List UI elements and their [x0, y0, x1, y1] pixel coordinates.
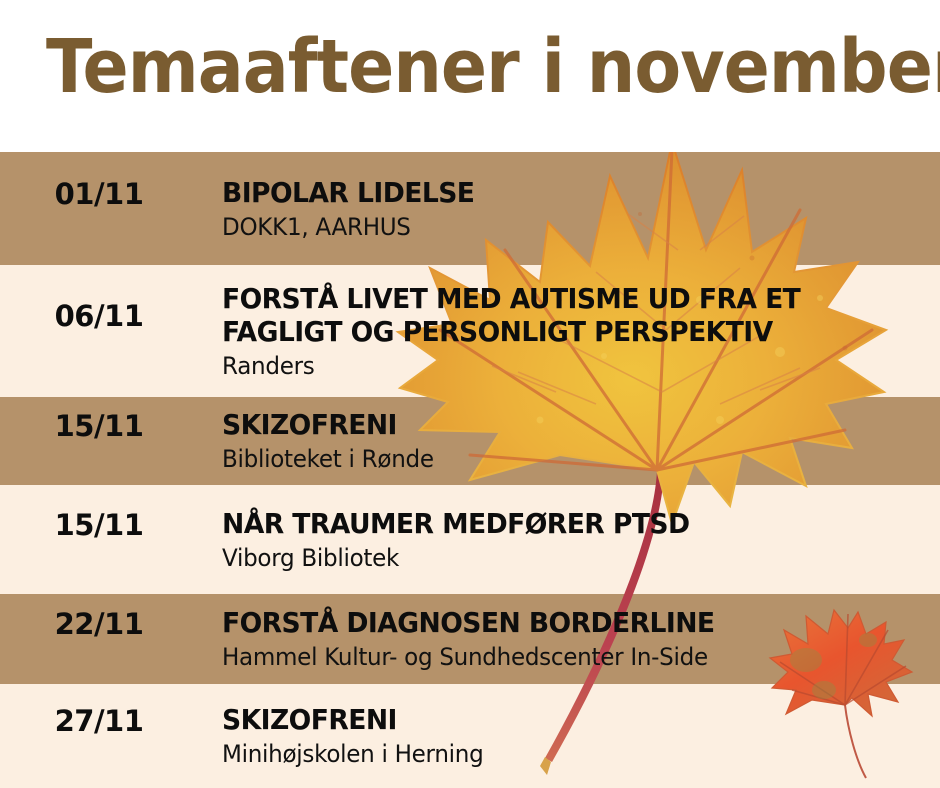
event-row[interactable]: 01/11BIPOLAR LIDELSEDOKK1, AARHUS [0, 152, 940, 265]
page-title: Temaaftener i november [46, 30, 940, 104]
event-body: SKIZOFRENIBiblioteket i Rønde [222, 408, 922, 474]
event-row[interactable]: 15/11SKIZOFRENIBiblioteket i Rønde [0, 397, 940, 485]
event-title: SKIZOFRENI [222, 703, 887, 736]
event-venue: Randers [222, 352, 894, 381]
event-body: FORSTÅ DIAGNOSEN BORDERLINEHammel Kultur… [222, 606, 922, 672]
event-title: SKIZOFRENI [222, 408, 887, 441]
event-body: NÅR TRAUMER MEDFØRER PTSDViborg Bibliote… [222, 507, 922, 573]
event-date: 06/11 [0, 299, 198, 333]
event-body: BIPOLAR LIDELSEDOKK1, AARHUS [222, 176, 922, 242]
event-venue: Biblioteket i Rønde [222, 445, 894, 474]
header-band: Temaaftener i november [0, 0, 940, 152]
event-date: 15/11 [0, 409, 198, 443]
event-title: BIPOLAR LIDELSE [222, 176, 887, 209]
event-venue: DOKK1, AARHUS [222, 213, 894, 242]
event-date: 01/11 [0, 177, 198, 211]
event-title: FORSTÅ DIAGNOSEN BORDERLINE [222, 606, 887, 639]
event-date: 22/11 [0, 607, 198, 641]
event-row[interactable]: 27/11SKIZOFRENIMinihøjskolen i Herning [0, 684, 940, 788]
event-venue: Viborg Bibliotek [222, 544, 894, 573]
event-row[interactable]: 15/11NÅR TRAUMER MEDFØRER PTSDViborg Bib… [0, 485, 940, 594]
event-body: FORSTÅ LIVET MED AUTISME UD FRA ET FAGLI… [222, 282, 922, 381]
event-venue: Minihøjskolen i Herning [222, 740, 894, 769]
event-title: FORSTÅ LIVET MED AUTISME UD FRA ET FAGLI… [222, 282, 887, 348]
event-title: NÅR TRAUMER MEDFØRER PTSD [222, 507, 887, 540]
event-date: 27/11 [0, 704, 198, 738]
event-venue: Hammel Kultur- og Sundhedscenter In-Side [222, 643, 894, 672]
poster-canvas: Temaaftener i november 01/11BIPOLAR LIDE… [0, 0, 940, 788]
event-date: 15/11 [0, 508, 198, 542]
event-body: SKIZOFRENIMinihøjskolen i Herning [222, 703, 922, 769]
event-row[interactable]: 22/11FORSTÅ DIAGNOSEN BORDERLINEHammel K… [0, 594, 940, 684]
event-row[interactable]: 06/11FORSTÅ LIVET MED AUTISME UD FRA ET … [0, 265, 940, 397]
